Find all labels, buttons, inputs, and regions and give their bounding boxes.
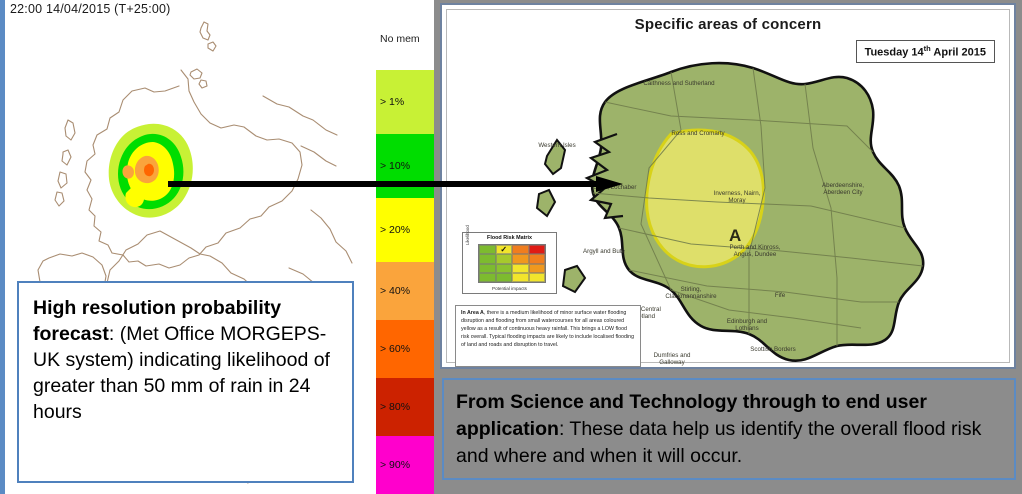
colorbar-segment-label: > 40% bbox=[380, 285, 410, 297]
colorbar-segment-label: > 90% bbox=[380, 459, 410, 471]
risk-matrix-title: Flood Risk Matrix bbox=[463, 235, 556, 241]
area-a-lead: In Area A bbox=[461, 310, 484, 316]
colorbar-segment: > 60% bbox=[376, 320, 434, 378]
risk-matrix-xlabel: Potential impacts bbox=[463, 286, 556, 291]
probability-forecast-panel: 22:00 14/04/2015 (T+25:00) bbox=[0, 0, 434, 494]
colorbar-segment: > 1% bbox=[376, 70, 434, 134]
risk-matrix-checkmark: ✓ bbox=[497, 246, 512, 254]
risk-matrix-cell bbox=[496, 273, 513, 282]
risk-matrix-cell bbox=[512, 245, 529, 254]
risk-matrix-cell bbox=[529, 245, 546, 254]
risk-matrix-cell bbox=[529, 254, 546, 263]
flood-risk-matrix-inset: Flood Risk Matrix Likelihood ✓ Potential… bbox=[462, 232, 557, 294]
colorbar-segment-label: > 10% bbox=[380, 160, 410, 172]
precipitation-probability-contours bbox=[101, 122, 211, 222]
right-caption-box: From Science and Technology through to e… bbox=[442, 378, 1016, 480]
risk-matrix-cell bbox=[512, 254, 529, 263]
end-user-application-panel: Specific areas of concern Tuesday 14th A… bbox=[434, 0, 1022, 494]
area-a-body: , there is a medium likelihood of minor … bbox=[461, 310, 634, 348]
area-a-marker: A bbox=[729, 226, 741, 246]
left-caption-text: High resolution probability forecast: (M… bbox=[33, 296, 340, 426]
risk-matrix-cell bbox=[479, 273, 496, 282]
risk-matrix-cell bbox=[529, 273, 546, 282]
risk-matrix-grid: ✓ bbox=[478, 244, 546, 283]
area-a-description: In Area A, there is a medium likelihood … bbox=[455, 305, 641, 367]
right-caption-text: From Science and Technology through to e… bbox=[456, 389, 1002, 470]
colorbar-segment: No mem bbox=[376, 8, 434, 70]
colorbar-segment: > 40% bbox=[376, 262, 434, 320]
flow-arrow bbox=[168, 176, 623, 192]
document-title: Specific areas of concern bbox=[447, 16, 1009, 33]
colorbar-segment: > 90% bbox=[376, 436, 434, 494]
risk-matrix-cell bbox=[512, 273, 529, 282]
colorbar-segment-label: No mem bbox=[380, 33, 420, 45]
risk-matrix-cell bbox=[479, 264, 496, 273]
risk-matrix-cell bbox=[479, 254, 496, 263]
left-caption-box: High resolution probability forecast: (M… bbox=[17, 281, 354, 483]
risk-matrix-cell bbox=[479, 245, 496, 254]
risk-matrix-cell: ✓ bbox=[496, 245, 513, 254]
colorbar-segment-label: > 80% bbox=[380, 401, 410, 413]
risk-matrix-ylabel: Likelihood bbox=[465, 235, 470, 245]
risk-matrix-cell bbox=[496, 264, 513, 273]
slide-root: 22:00 14/04/2015 (T+25:00) bbox=[0, 0, 1022, 494]
colorbar-segment-label: > 1% bbox=[380, 96, 404, 108]
risk-matrix-cell bbox=[529, 264, 546, 273]
risk-matrix-cell bbox=[512, 264, 529, 273]
colorbar-segment-label: > 20% bbox=[380, 224, 410, 236]
colorbar-segment: > 20% bbox=[376, 198, 434, 262]
probability-colorbar: No mem> 1%> 10%> 20%> 40%> 60%> 80%> 90%… bbox=[376, 8, 434, 492]
colorbar-segment-label: > 60% bbox=[380, 343, 410, 355]
risk-matrix-cell bbox=[496, 254, 513, 263]
colorbar-segment: > 80% bbox=[376, 378, 434, 436]
